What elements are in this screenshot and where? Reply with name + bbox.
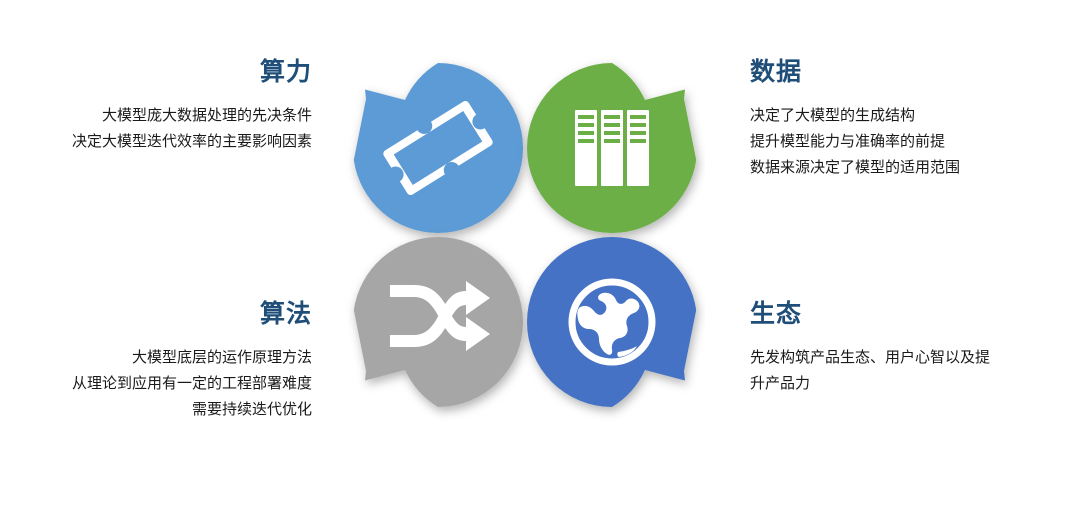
block-compute-lines: 大模型庞大数据处理的先决条件 决定大模型迭代效率的主要影响因素 xyxy=(0,103,312,155)
bubble-data[interactable] xyxy=(527,63,696,233)
bubble-compute[interactable] xyxy=(354,63,523,233)
block-ecology-heading: 生态 xyxy=(750,300,1080,329)
block-data-line-1: 决定了大模型的生成结构 xyxy=(750,103,1080,129)
block-ecology-line-2: 升产品力 xyxy=(750,371,1080,397)
block-algorithm-line-3: 需要持续迭代优化 xyxy=(0,397,312,423)
four-element-diagram xyxy=(345,55,705,465)
block-compute-heading: 算力 xyxy=(0,58,312,87)
block-data-lines: 决定了大模型的生成结构 提升模型能力与准确率的前提 数据来源决定了模型的适用范围 xyxy=(750,103,1080,181)
server-racks-icon xyxy=(575,110,649,186)
block-algorithm-line-2: 从理论到应用有一定的工程部署难度 xyxy=(0,371,312,397)
block-data-line-3: 数据来源决定了模型的适用范围 xyxy=(750,155,1080,181)
bubble-algorithm[interactable] xyxy=(354,237,523,407)
block-ecology-line-1: 先发构筑产品生态、用户心智以及提 xyxy=(750,345,1080,371)
block-data-heading: 数据 xyxy=(750,58,1080,87)
infographic-canvas: 算力 大模型庞大数据处理的先决条件 决定大模型迭代效率的主要影响因素 算法 大模… xyxy=(0,0,1080,518)
block-compute: 算力 大模型庞大数据处理的先决条件 决定大模型迭代效率的主要影响因素 xyxy=(0,58,312,155)
block-algorithm-heading: 算法 xyxy=(0,300,312,329)
block-algorithm: 算法 大模型底层的运作原理方法 从理论到应用有一定的工程部署难度 需要持续迭代优… xyxy=(0,300,312,423)
block-compute-line-1: 大模型庞大数据处理的先决条件 xyxy=(0,103,312,129)
block-algorithm-line-1: 大模型底层的运作原理方法 xyxy=(0,345,312,371)
block-ecology-lines: 先发构筑产品生态、用户心智以及提 升产品力 xyxy=(750,345,1080,397)
block-data: 数据 决定了大模型的生成结构 提升模型能力与准确率的前提 数据来源决定了模型的适… xyxy=(750,58,1080,181)
block-data-line-2: 提升模型能力与准确率的前提 xyxy=(750,129,1080,155)
bubble-ecology[interactable] xyxy=(527,237,696,407)
block-ecology: 生态 先发构筑产品生态、用户心智以及提 升产品力 xyxy=(750,300,1080,397)
block-compute-line-2: 决定大模型迭代效率的主要影响因素 xyxy=(0,129,312,155)
block-algorithm-lines: 大模型底层的运作原理方法 从理论到应用有一定的工程部署难度 需要持续迭代优化 xyxy=(0,345,312,423)
